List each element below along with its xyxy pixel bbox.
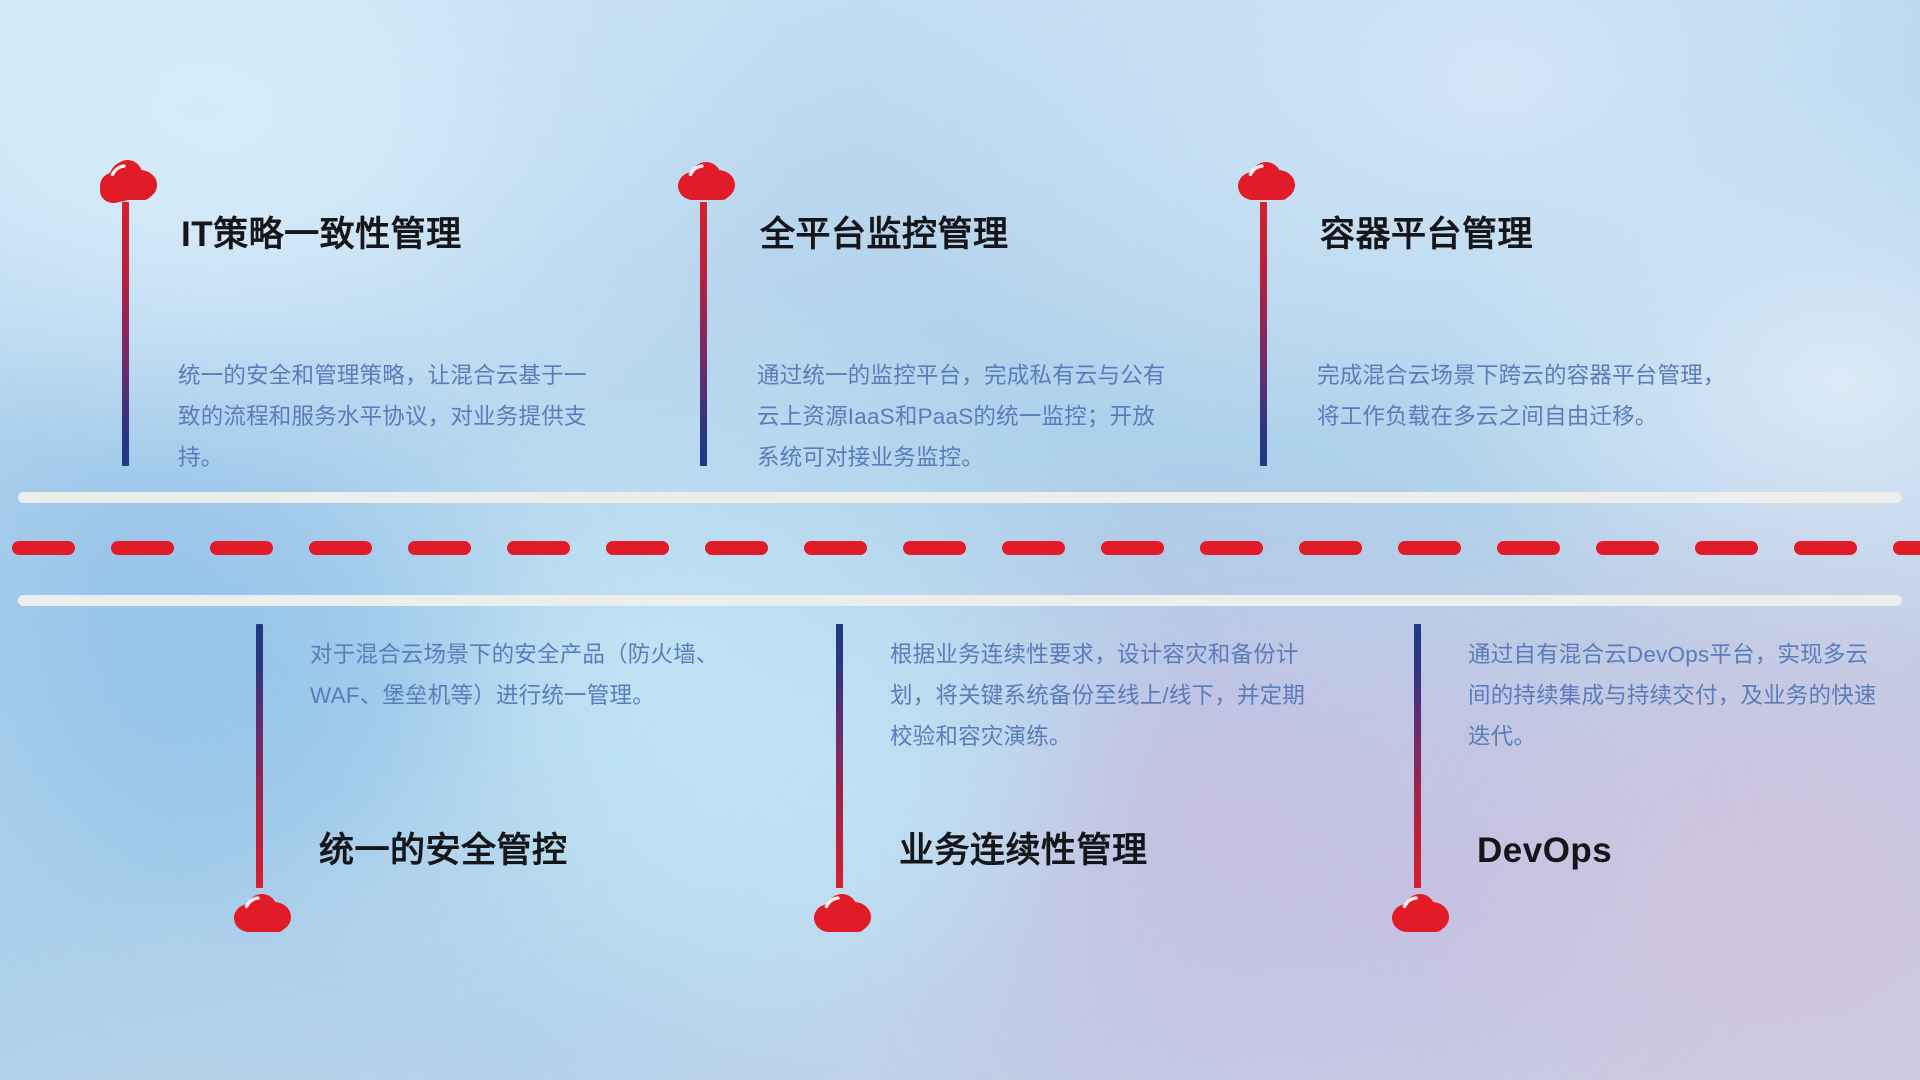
accent-stem (122, 202, 129, 466)
divider-dash (705, 541, 768, 555)
card-body: 通过统一的监控平台，完成私有云与公有云上资源IaaS和PaaS的统一监控；开放系… (757, 355, 1177, 478)
accent-stem (836, 624, 843, 888)
divider-dash (606, 541, 669, 555)
card-title: IT策略一致性管理 (181, 217, 462, 252)
divider-dash (210, 541, 273, 555)
divider-dash (1002, 541, 1065, 555)
divider-dash (1794, 541, 1857, 555)
accent-stem (1414, 624, 1421, 888)
accent-stem (1260, 202, 1267, 466)
divider-rail-bottom (18, 595, 1902, 606)
divider-dashed-line (0, 541, 1920, 555)
card-title: 业务连续性管理 (899, 833, 1148, 868)
card-title: 容器平台管理 (1320, 217, 1533, 252)
accent-stem (256, 624, 263, 888)
divider-dash (12, 541, 75, 555)
divider-rail-top (18, 492, 1902, 503)
card-body: 根据业务连续性要求，设计容灾和备份计划，将关键系统备份至线上/线下，并定期校验和… (890, 634, 1310, 757)
divider-dash (1596, 541, 1659, 555)
divider-dash (1398, 541, 1461, 555)
card-body: 统一的安全和管理策略，让混合云基于一致的流程和服务水平协议，对业务提供支持。 (178, 355, 598, 478)
divider-dash (1695, 541, 1758, 555)
cloud-icon (231, 888, 293, 936)
divider-dash (1893, 541, 1920, 555)
divider-dash (1200, 541, 1263, 555)
divider-dash (903, 541, 966, 555)
infographic-canvas: IT策略一致性管理 统一的安全和管理策略，让混合云基于一致的流程和服务水平协议，… (0, 0, 1920, 1080)
divider-dash (1101, 541, 1164, 555)
divider-dash (408, 541, 471, 555)
divider-dash (309, 541, 372, 555)
card-title: 统一的安全管控 (319, 833, 568, 868)
cloud-icon (1235, 156, 1297, 204)
divider-dash (1497, 541, 1560, 555)
background-haze-pink (1560, 760, 1920, 1080)
card-title: DevOps (1477, 833, 1612, 868)
divider-dash (507, 541, 570, 555)
divider-dash (1299, 541, 1362, 555)
cloud-icon (97, 156, 159, 204)
background-haze-top-left (0, 0, 460, 300)
cloud-icon (675, 156, 737, 204)
card-body: 通过自有混合云DevOps平台，实现多云间的持续集成与持续交付，及业务的快速迭代… (1468, 634, 1888, 757)
card-body: 完成混合云场景下跨云的容器平台管理，将工作负载在多云之间自由迁移。 (1317, 355, 1737, 437)
cloud-icon (1389, 888, 1451, 936)
card-title: 全平台监控管理 (760, 217, 1009, 252)
divider-dash (111, 541, 174, 555)
card-body: 对于混合云场景下的安全产品（防火墙、WAF、堡垒机等）进行统一管理。 (310, 634, 730, 716)
divider-dash (804, 541, 867, 555)
cloud-icon (811, 888, 873, 936)
accent-stem (700, 202, 707, 466)
